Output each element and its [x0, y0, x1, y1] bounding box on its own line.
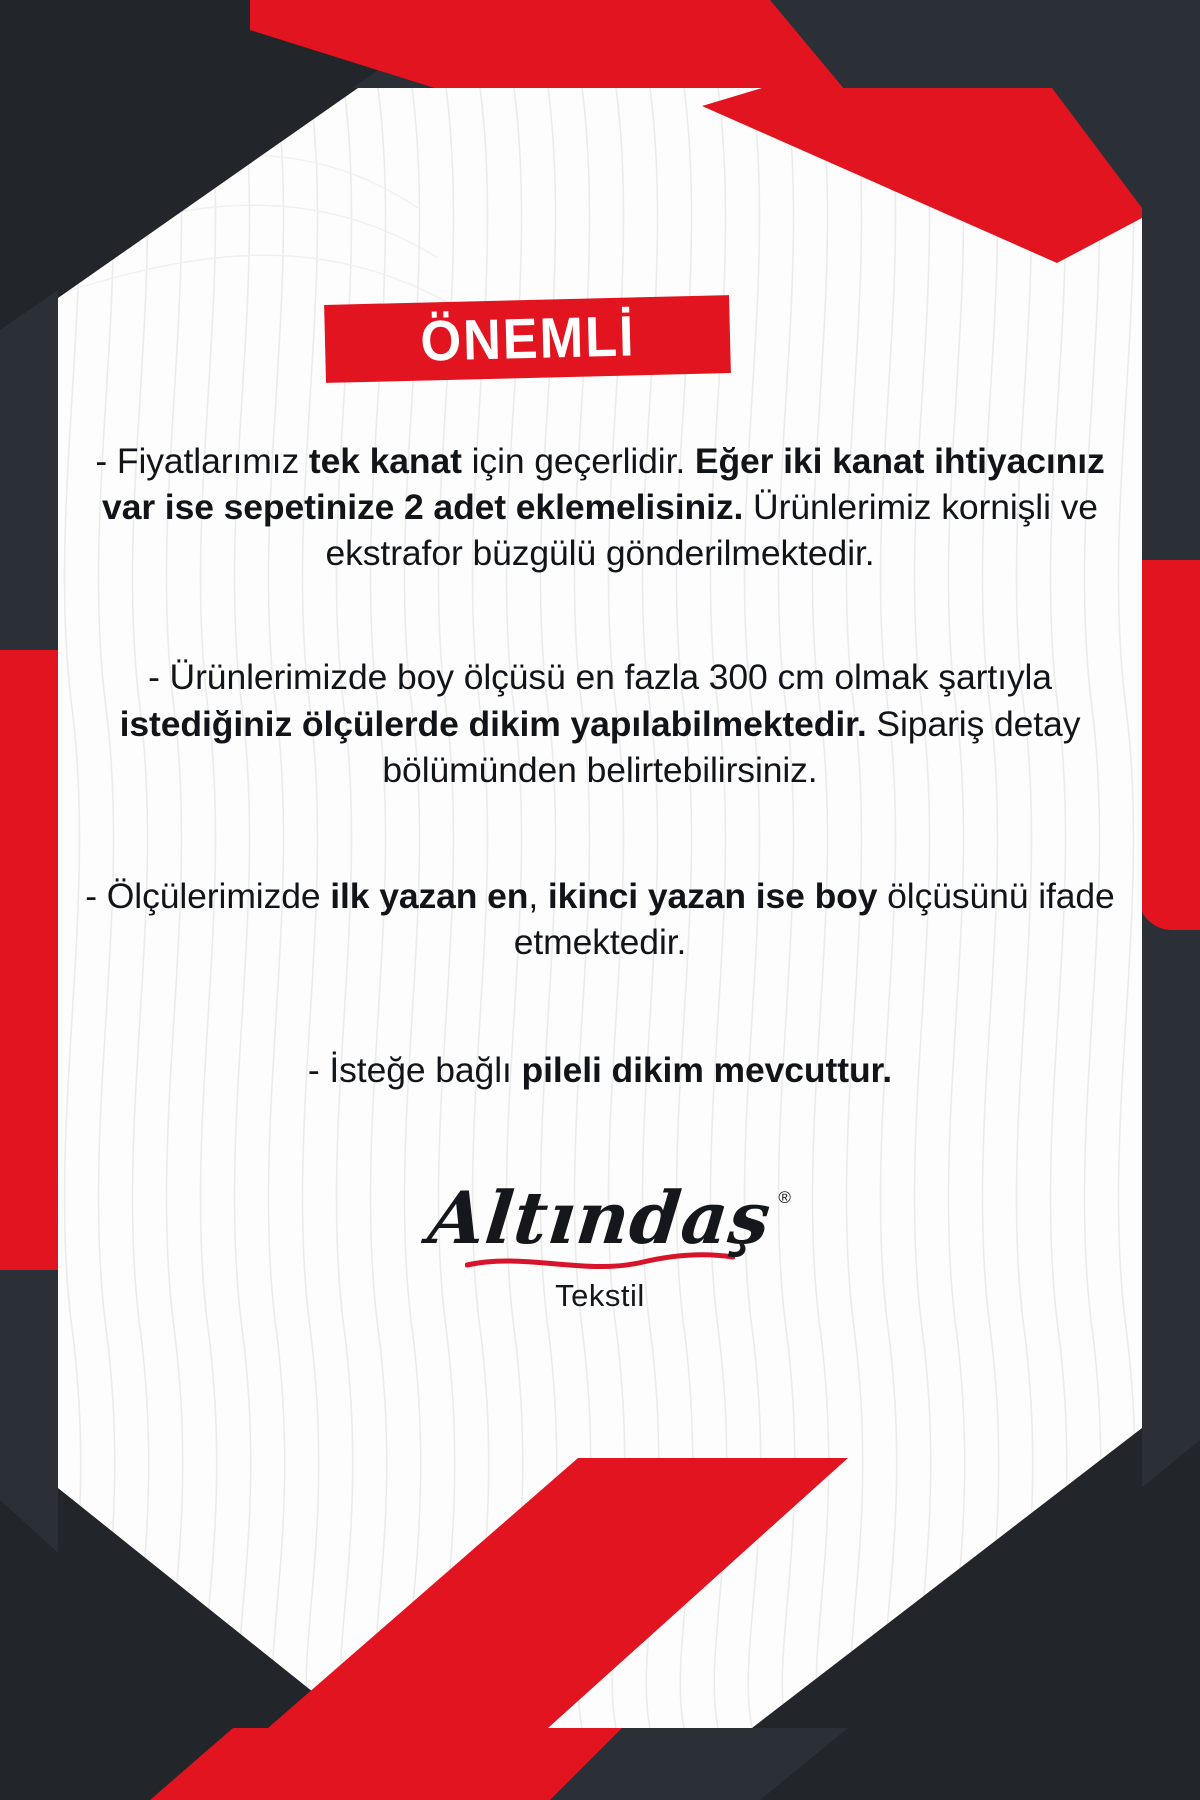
body-text: , — [528, 876, 548, 916]
brand-subtitle: Tekstil — [0, 1278, 1200, 1314]
brand-wordmark: Altındaş ® — [429, 1182, 771, 1254]
body-text: - İsteğe bağlı — [308, 1050, 522, 1090]
paragraph-fiyat-tek-kanat: - Fiyatlarımız tek kanat için geçerlidir… — [78, 438, 1122, 576]
notice-text-block: - Fiyatlarımız tek kanat için geçerlidir… — [78, 438, 1122, 1145]
paragraph-olcu-sirasi: - Ölçülerimizde ilk yazan en, ikinci yaz… — [78, 873, 1122, 965]
brand-logo: Altındaş ® Tekstil — [0, 1182, 1200, 1314]
body-text: için geçerlidir. — [462, 441, 695, 481]
onemli-banner: ÖNEMLİ — [324, 295, 731, 383]
paragraph-pileli-dikim: - İsteğe bağlı pileli dikim mevcuttur. — [78, 1047, 1122, 1093]
emphasis-text: pileli dikim mevcuttur. — [522, 1050, 893, 1090]
body-text: - Ürünlerimizde boy ölçüsü en fazla 300 … — [148, 657, 1052, 697]
paragraph-boy-olcusu: - Ürünlerimizde boy ölçüsü en fazla 300 … — [78, 654, 1122, 792]
right-red-block — [1138, 560, 1200, 930]
emphasis-text: ikinci yazan ise boy — [548, 876, 877, 916]
emphasis-text: ilk yazan en — [330, 876, 528, 916]
registered-trademark-icon: ® — [778, 1188, 791, 1208]
emphasis-text: tek kanat — [309, 441, 462, 481]
brand-name: Altındaş — [425, 1182, 774, 1254]
body-text: - Fiyatlarımız — [95, 441, 308, 481]
left-red-block — [0, 650, 60, 1270]
body-text: - Ölçülerimizde — [85, 876, 330, 916]
poster-canvas: ÖNEMLİ - Fiyatlarımız tek kanat için geç… — [0, 0, 1200, 1800]
banner-title: ÖNEMLİ — [419, 308, 635, 370]
emphasis-text: istediğiniz ölçülerde dikim yapılabilmek… — [120, 704, 867, 744]
